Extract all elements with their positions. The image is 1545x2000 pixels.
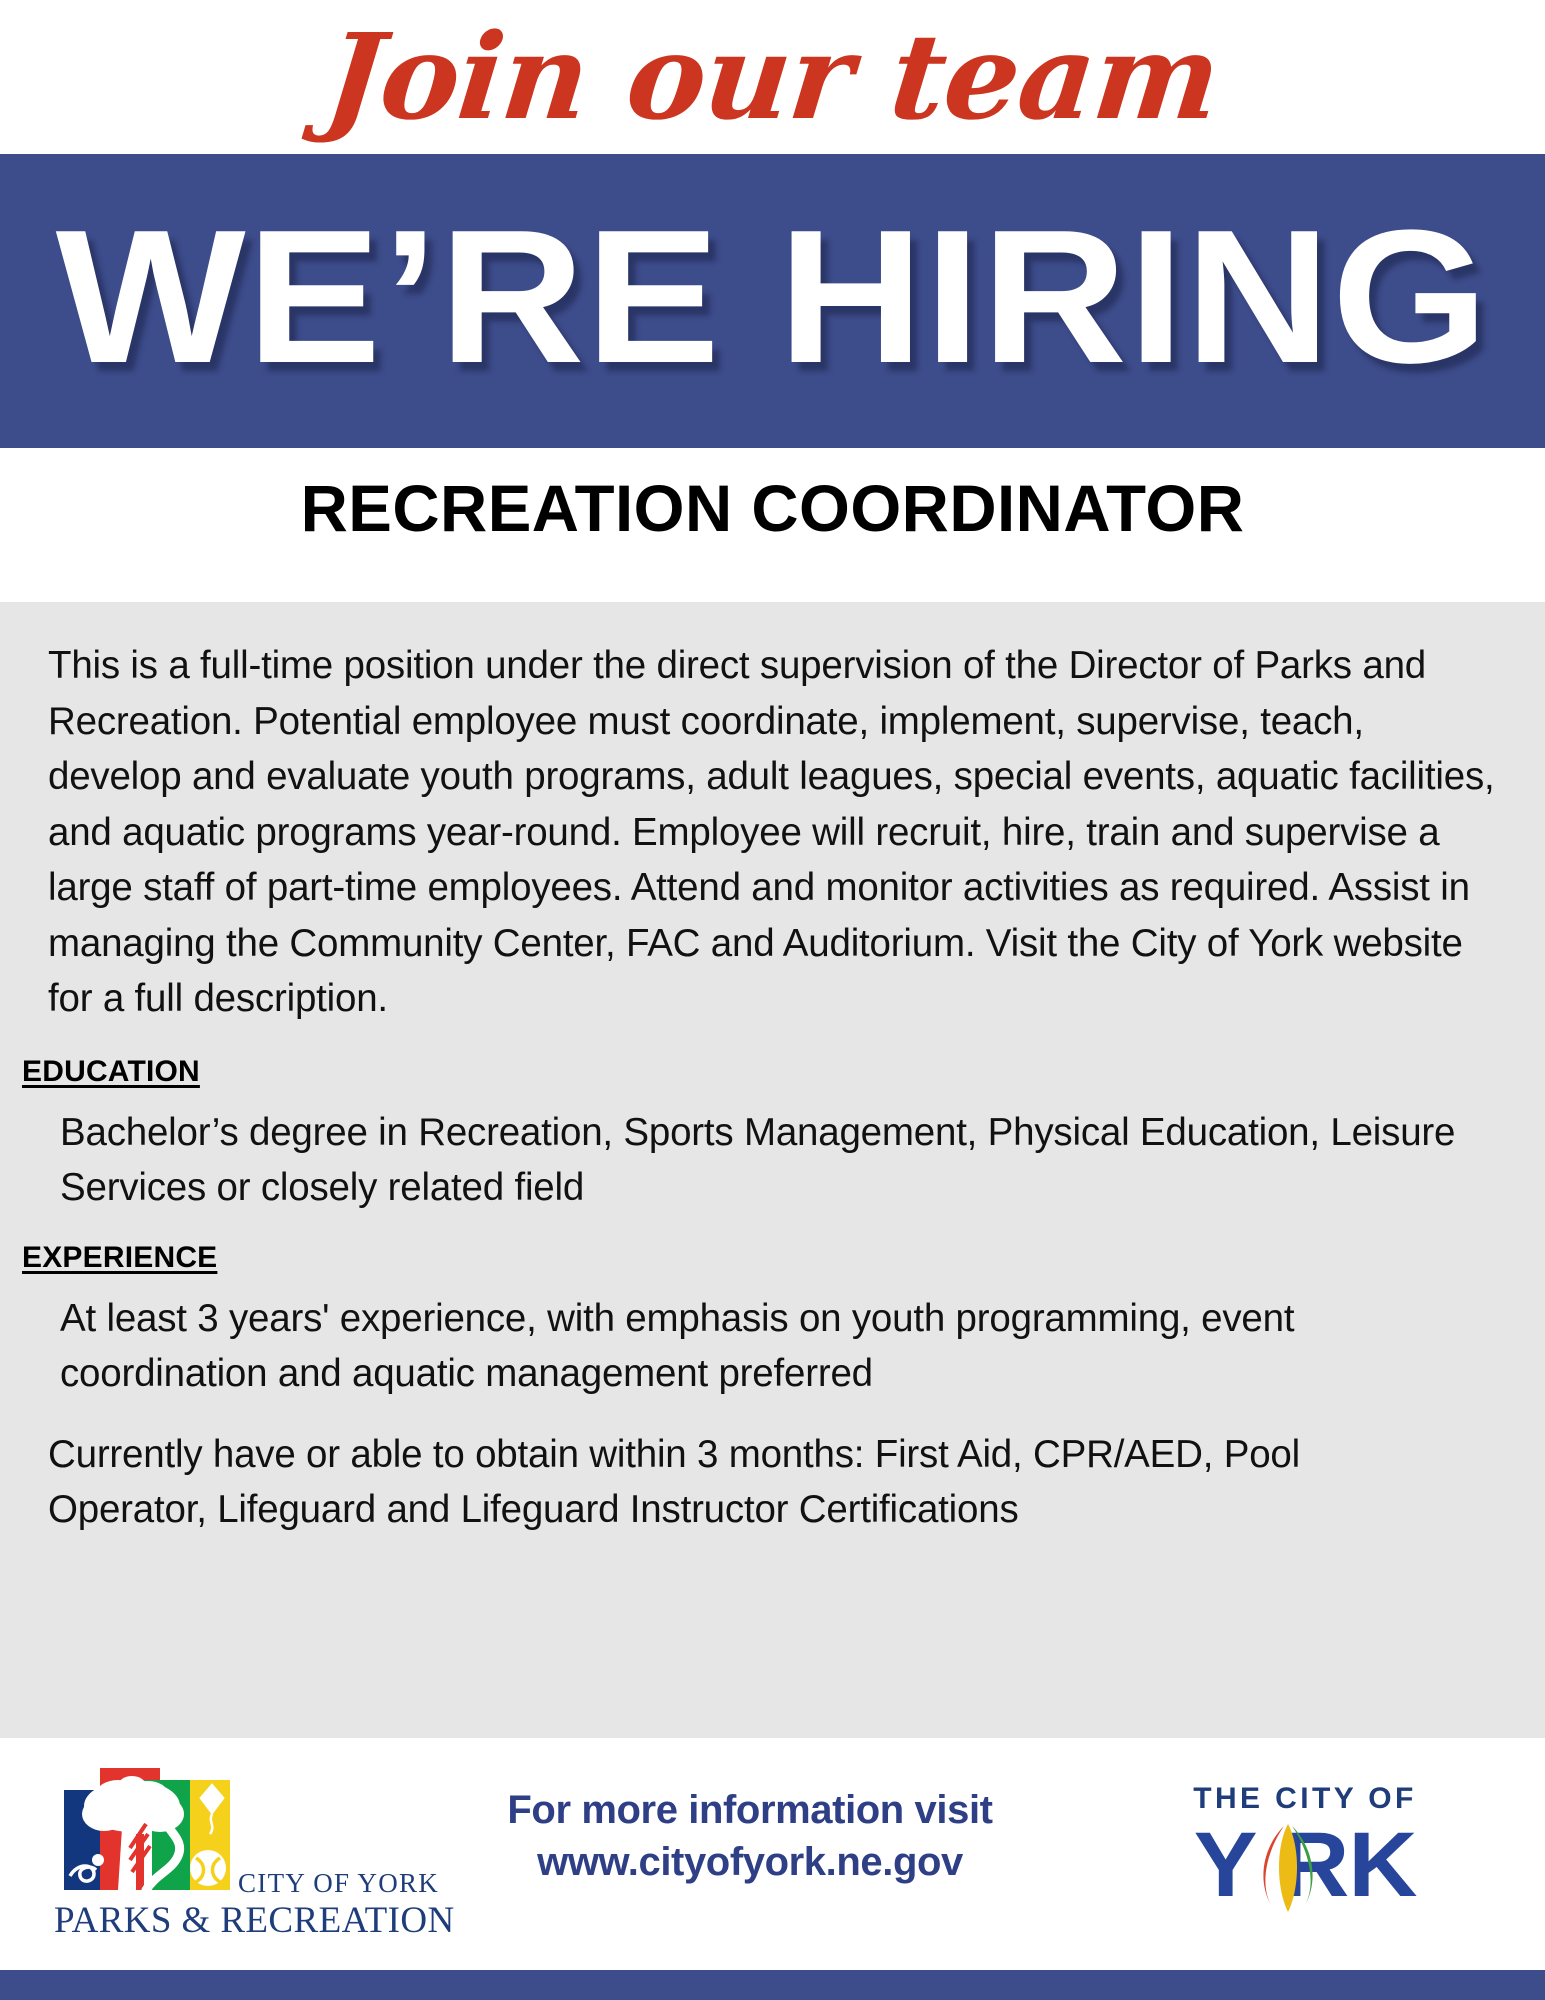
job-title: RECREATION COORDINATOR	[8, 460, 1538, 556]
city-of-york-logo: THE CITY OF Y RK	[1140, 1782, 1470, 1922]
section-heading-education: EDUCATION	[22, 1055, 1497, 1089]
parks-recreation-emblem-icon	[56, 1764, 236, 1896]
contact-line-1: For more information visit	[400, 1784, 1100, 1836]
parks-logo-line2: PARKS & RECREATION	[54, 1900, 455, 1942]
education-requirement: Bachelor’s degree in Recreation, Sports …	[60, 1105, 1480, 1215]
york-logo-tagline: THE CITY OF	[1140, 1782, 1470, 1816]
hiring-banner: WE’RE HIRING	[0, 154, 1545, 448]
spacer	[48, 1415, 1497, 1427]
join-our-team-script: Join our team	[0, 2, 1545, 152]
parks-recreation-logo: CITY OF YORK PARKS & RECREATION	[52, 1760, 392, 1945]
york-balloon-icon	[1244, 1822, 1332, 1914]
job-description: This is a full-time position under the d…	[48, 638, 1497, 1027]
experience-requirement-1: At least 3 years' experience, with empha…	[60, 1291, 1480, 1401]
york-wordmark: Y RK	[1140, 1816, 1470, 1914]
contact-website-url[interactable]: www.cityofyork.ne.gov	[400, 1836, 1100, 1888]
section-heading-experience: EXPERIENCE	[22, 1241, 1497, 1275]
hiring-headline: WE’RE HIRING	[0, 172, 1545, 422]
tagline-band: Join our team	[0, 0, 1545, 154]
footer-accent-bar	[0, 1970, 1545, 2000]
job-details-panel: This is a full-time position under the d…	[0, 602, 1545, 1738]
experience-requirement-2: Currently have or able to obtain within …	[48, 1427, 1468, 1537]
contact-block: For more information visit www.cityofyor…	[400, 1784, 1100, 1888]
footer: CITY OF YORK PARKS & RECREATION For more…	[0, 1738, 1545, 1970]
